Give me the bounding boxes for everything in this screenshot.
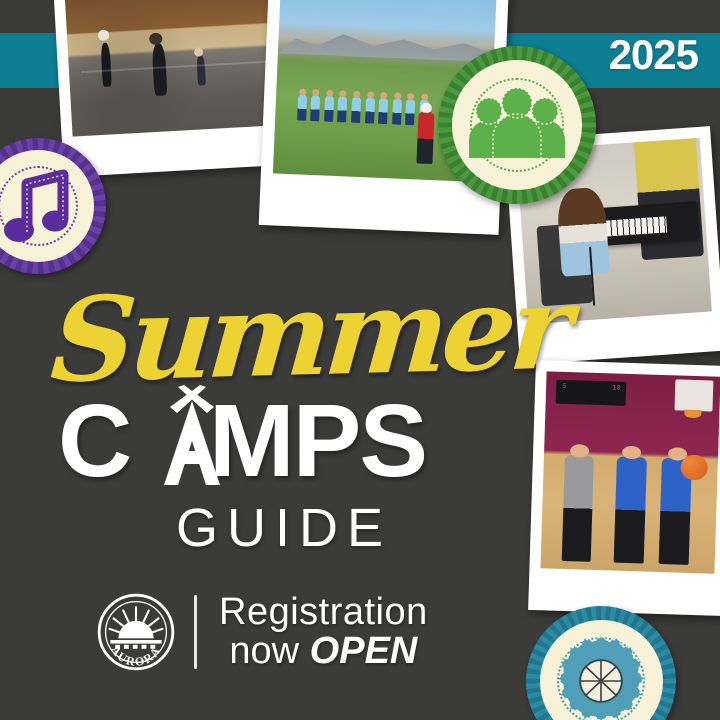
camper xyxy=(392,98,402,124)
scoreboard: 5 10 xyxy=(556,380,626,406)
basketball-hoop xyxy=(674,379,713,412)
dance-figure-head xyxy=(98,30,110,42)
basketball-player xyxy=(562,455,595,562)
footer-lockup: AURORA Registration now OPEN xyxy=(96,592,428,672)
headline-camps-right: MPS xyxy=(209,383,426,498)
headline-camps-left: C xyxy=(58,383,130,498)
photo-basketball-image: 5 10 xyxy=(540,371,720,573)
photo-dance-studio xyxy=(52,0,291,177)
gear-basketball-icon xyxy=(553,633,649,720)
mountain-range xyxy=(278,26,495,62)
camper xyxy=(365,97,375,123)
camper xyxy=(297,94,307,120)
music-note-icon xyxy=(1,166,75,246)
scoreboard-away: 10 xyxy=(612,385,621,393)
dance-child xyxy=(196,55,206,85)
dance-barre xyxy=(81,60,278,73)
tent-a-icon xyxy=(144,385,240,489)
year-label: 2025 xyxy=(609,31,698,79)
headline-guide: GUIDE xyxy=(176,497,500,559)
headline-block: Summer C MPS GUIDE xyxy=(0,288,500,559)
basketball-player xyxy=(614,456,647,563)
dance-figure xyxy=(100,42,111,86)
registration-text-block: Registration now OPEN xyxy=(219,593,428,671)
photo-basketball-gym: 5 10 xyxy=(528,360,720,616)
field-coach xyxy=(416,112,434,165)
badge-community xyxy=(438,46,596,204)
camper xyxy=(351,96,361,122)
badge-sports xyxy=(526,606,676,720)
headline-camps-row: C MPS xyxy=(58,391,500,491)
badge-community-face xyxy=(452,60,582,190)
registration-now-label: now xyxy=(229,630,309,672)
dance-instructor xyxy=(152,44,168,97)
footer-divider xyxy=(194,595,197,669)
badge-sports-face xyxy=(540,620,663,720)
basketball-ball xyxy=(681,454,708,480)
registration-open-label: OPEN xyxy=(310,630,418,672)
camper xyxy=(324,95,334,121)
camper xyxy=(405,99,415,125)
headline-summer: Summer xyxy=(48,276,505,394)
photo-dance-image xyxy=(64,0,278,137)
camper xyxy=(337,96,347,122)
aurora-city-seal-logo: AURORA xyxy=(96,592,176,672)
badge-music-face xyxy=(0,150,94,262)
camper xyxy=(378,97,388,123)
three-people-icon xyxy=(465,88,569,162)
camper xyxy=(310,95,320,121)
summer-camps-poster: 2025 xyxy=(0,0,720,720)
registration-line-1: Registration xyxy=(219,593,428,632)
scoreboard-home: 5 xyxy=(562,383,566,391)
registration-line-2: now OPEN xyxy=(219,632,428,671)
